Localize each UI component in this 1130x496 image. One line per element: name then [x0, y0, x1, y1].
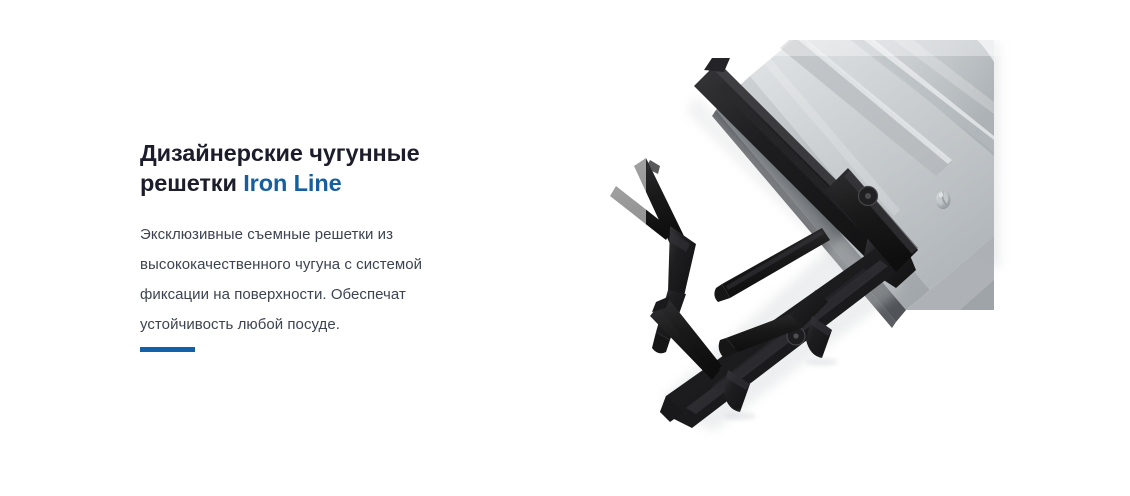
- product-photo: [600, 40, 1030, 460]
- body-text: Эксклюзивные съемные решетки из высокока…: [140, 198, 440, 340]
- brand-name: Iron Line: [243, 170, 341, 196]
- screw: [936, 191, 951, 209]
- headline-line-2-prefix: решетки: [140, 170, 243, 196]
- headline-line-1: Дизайнерские чугунные: [140, 140, 420, 166]
- promo-section: Дизайнерские чугунные решетки Iron Line …: [0, 0, 1130, 496]
- page-title: Дизайнерские чугунные решетки Iron Line: [140, 138, 470, 198]
- text-column: Дизайнерские чугунные решетки Iron Line …: [140, 138, 470, 340]
- accent-divider: [140, 347, 195, 352]
